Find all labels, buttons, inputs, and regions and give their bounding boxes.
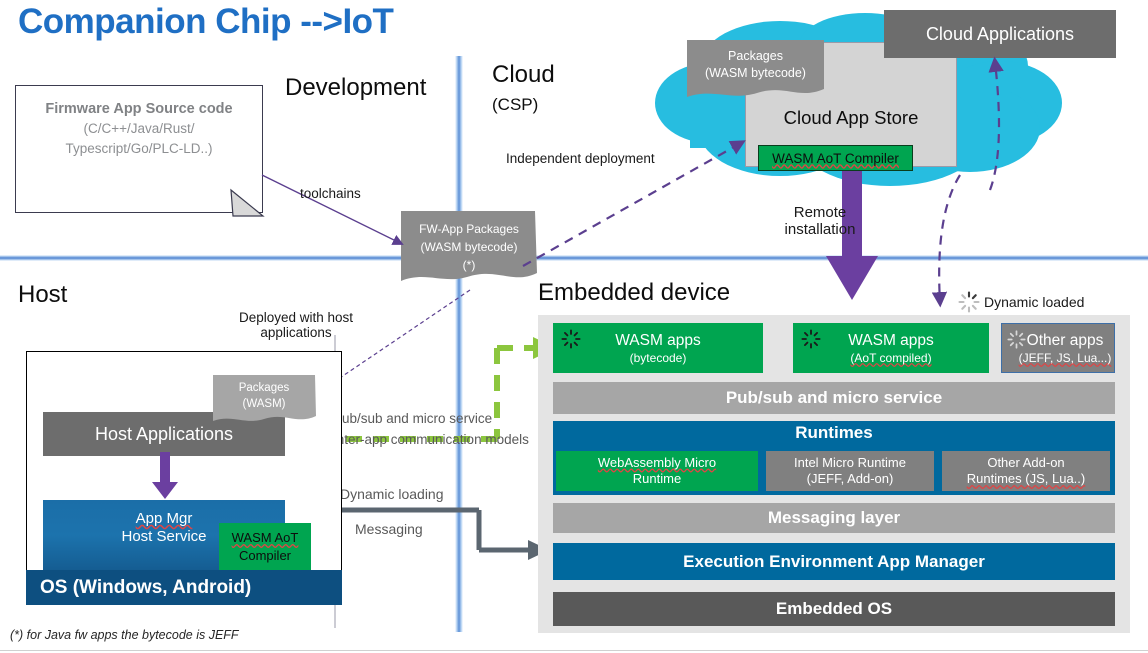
- embedded-app-card-wasm-bytecode[interactable]: WASM apps (bytecode): [553, 323, 763, 373]
- embedded-pubsub-label: Pub/sub and micro service: [726, 388, 942, 408]
- spinner-icon: [958, 291, 980, 313]
- host-aot-line1: WASM AoT: [232, 530, 299, 545]
- embedded-messaging-layer-row: Messaging layer: [553, 503, 1115, 533]
- runtime-card-line1: Intel Micro Runtime: [794, 455, 906, 471]
- spinner-icon: [561, 329, 581, 349]
- app-card-name: Other apps: [1027, 332, 1104, 350]
- label-dynamic-loading: Dynamic loading: [340, 486, 444, 502]
- embedded-runtimes-title: Runtimes: [553, 423, 1115, 443]
- remote-installation-line2: installation: [775, 221, 865, 238]
- runtime-card-line1: Other Add-on: [987, 455, 1064, 471]
- slide-canvas: Companion Chip -->IoT Development Cloud …: [0, 0, 1148, 653]
- app-card-detail: (JEFF, JS, Lua...): [1019, 351, 1112, 365]
- runtime-card-line2: Runtimes (JS, Lua..): [967, 471, 1086, 486]
- host-packages-line2: (WASM): [213, 397, 315, 413]
- embedded-app-card-wasm-aot[interactable]: WASM apps (AoT compiled): [793, 323, 989, 373]
- label-messaging: Messaging: [355, 521, 423, 537]
- label-independent-deployment: Independent deployment: [506, 151, 655, 166]
- embedded-apps-row: WASM apps (bytecode) WASM apps (AoT comp…: [553, 323, 1115, 373]
- bottom-hairline: [0, 650, 1148, 651]
- deployed-host-line2: applications: [221, 325, 371, 340]
- deployed-host-line1: Deployed with host: [221, 310, 371, 325]
- footnote: (*) for Java fw apps the bytecode is JEF…: [10, 628, 239, 642]
- runtime-card-line2: Runtime: [633, 471, 681, 487]
- label-remote-installation: Remote installation: [775, 204, 865, 238]
- app-card-name: WASM apps: [848, 332, 934, 350]
- footnote-text: (*) for Java fw apps the bytecode is JEF…: [10, 628, 239, 642]
- runtime-card-other-addon[interactable]: Other Add-on Runtimes (JS, Lua..): [942, 451, 1110, 491]
- label-toolchains: toolchains: [300, 186, 361, 201]
- runtime-card-intel-micro[interactable]: Intel Micro Runtime (JEFF, Add-on): [766, 451, 934, 491]
- host-apps-to-appmgr-arrow: [152, 452, 178, 500]
- spinner-icon: [1007, 330, 1026, 349]
- host-os-label: OS (Windows, Android): [40, 577, 251, 599]
- runtime-card-wasm-micro[interactable]: WebAssembly Micro Runtime: [556, 451, 758, 491]
- cloud-apps-uplink-arrow: [990, 62, 999, 190]
- embedded-app-manager-label: Execution Environment App Manager: [683, 552, 985, 572]
- embedded-pubsub-row: Pub/sub and micro service: [553, 382, 1115, 414]
- host-wasm-aot-compiler[interactable]: WASM AoT Compiler: [219, 523, 311, 570]
- dynamic-loaded-down-arrow: [939, 175, 960, 302]
- app-mgr-label: App Mgr: [136, 510, 193, 527]
- embedded-os-label: Embedded OS: [776, 599, 892, 619]
- remote-installation-line1: Remote: [775, 204, 865, 221]
- embedded-runtimes-row: Runtimes WebAssembly Micro Runtime Intel…: [553, 421, 1115, 495]
- host-packages-line1: Packages: [213, 381, 315, 397]
- embedded-os-row: Embedded OS: [553, 592, 1115, 626]
- embedded-messaging-label: Messaging layer: [768, 508, 900, 528]
- app-card-name: WASM apps: [615, 332, 701, 350]
- spinner-icon: [801, 329, 821, 349]
- label-inter-app-communication: Inter-app communication models: [333, 432, 529, 447]
- runtime-card-line2: (JEFF, Add-on): [807, 471, 894, 487]
- legend-dynamic-loaded-label: Dynamic loaded: [984, 294, 1084, 310]
- embedded-app-card-other[interactable]: Other apps (JEFF, JS, Lua...): [1001, 323, 1115, 373]
- legend-dynamic-loaded: Dynamic loaded: [958, 291, 1084, 313]
- label-pubsub-micro-service: Pub/sub and micro service: [333, 411, 492, 426]
- host-aot-line2: Compiler: [219, 547, 311, 565]
- app-card-detail: (AoT compiled): [850, 351, 931, 365]
- host-packages-callout: Packages (WASM): [213, 375, 315, 425]
- host-os-box: OS (Windows, Android): [26, 570, 342, 605]
- runtime-card-line1: WebAssembly Micro: [598, 455, 716, 470]
- label-deployed-with-host: Deployed with host applications: [221, 310, 371, 340]
- app-card-detail: (bytecode): [630, 351, 687, 365]
- embedded-app-manager-row: Execution Environment App Manager: [553, 543, 1115, 580]
